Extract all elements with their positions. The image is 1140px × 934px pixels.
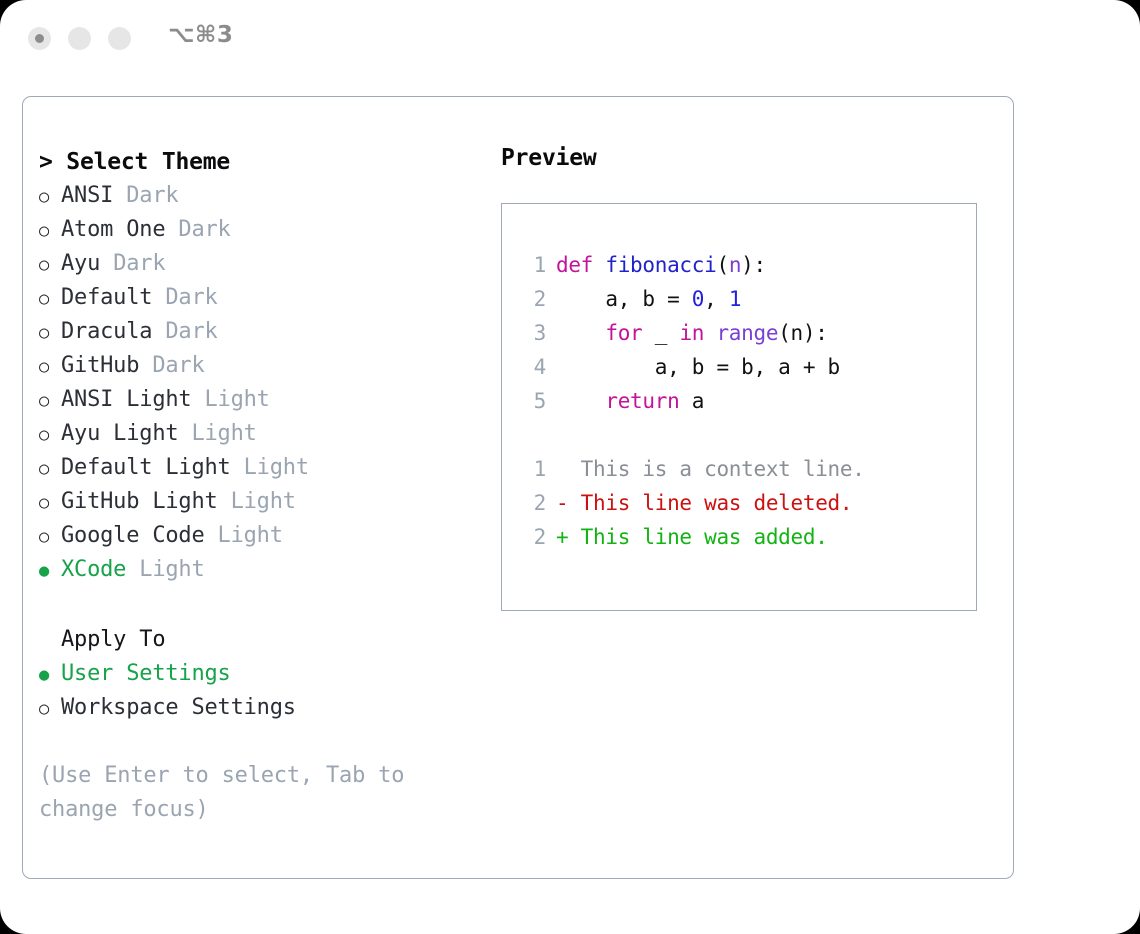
theme-option[interactable]: ○Ayu Dark — [39, 247, 479, 281]
theme-option-variant: Light — [218, 523, 283, 548]
theme-option[interactable]: ○Atom One Dark — [39, 213, 479, 247]
theme-picker-panel: > Select Theme ○ANSI Dark○Atom One Dark○… — [22, 96, 1014, 879]
diff-line: 1 This is a context line. — [520, 452, 976, 486]
code-line: 1def fibonacci(n): — [520, 248, 976, 282]
code-token: a — [679, 389, 704, 413]
apply-to-option[interactable]: ●User Settings — [39, 657, 479, 691]
radio-unselected-icon: ○ — [39, 180, 61, 214]
keyboard-shortcut-label: ⌥⌘3 — [168, 22, 233, 48]
diff-sample: 1 This is a context line.2- This line wa… — [520, 452, 976, 554]
radio-unselected-icon: ○ — [39, 384, 61, 418]
radio-unselected-icon: ○ — [39, 316, 61, 350]
window-button-close[interactable] — [28, 27, 51, 50]
diff-line-number: 1 — [520, 452, 546, 486]
window-title-bar: ⌥⌘3 — [0, 0, 1140, 78]
theme-option[interactable]: ○GitHub Dark — [39, 349, 479, 383]
code-token: ): — [741, 253, 766, 277]
preview-box: 1def fibonacci(n):2 a, b = 0, 13 for _ i… — [501, 203, 977, 611]
code-token — [556, 389, 605, 413]
theme-option-name: GitHub Light — [61, 489, 218, 514]
theme-list: ○ANSI Dark○Atom One Dark○Ayu Dark○Defaul… — [39, 179, 479, 587]
code-token: 1 — [729, 287, 741, 311]
code-token — [556, 321, 605, 345]
code-token: ( — [716, 253, 728, 277]
code-token: a, b = b, a + b — [556, 355, 840, 379]
code-line: 5 return a — [520, 384, 976, 418]
code-sample: 1def fibonacci(n):2 a, b = 0, 13 for _ i… — [520, 248, 976, 418]
keyboard-hint-text: (Use Enter to select, Tab to change focu… — [39, 759, 449, 827]
theme-option[interactable]: ○Google Code Light — [39, 519, 479, 553]
preview-column: Preview 1def fibonacci(n):2 a, b = 0, 13… — [501, 145, 1001, 611]
theme-option-name: Google Code — [61, 523, 205, 548]
diff-line-number: 2 — [520, 486, 546, 520]
preview-header: Preview — [501, 145, 1001, 171]
diff-line-text: + This line was added. — [556, 525, 828, 549]
theme-option-name: Ayu Light — [61, 421, 178, 446]
diff-line: 2+ This line was added. — [520, 520, 976, 554]
code-token: fibonacci — [605, 253, 716, 277]
theme-option-name: ANSI Light — [61, 387, 191, 412]
code-line: 4 a, b = b, a + b — [520, 350, 976, 384]
code-token: , — [704, 287, 729, 311]
code-line-number: 1 — [520, 248, 546, 282]
code-line-number: 5 — [520, 384, 546, 418]
theme-option[interactable]: ○Dracula Dark — [39, 315, 479, 349]
theme-option-name: Ayu — [61, 251, 100, 276]
theme-option-variant: Dark — [165, 319, 217, 344]
window-button-maximize[interactable] — [108, 27, 131, 50]
theme-option-variant: Light — [205, 387, 270, 412]
radio-unselected-icon: ○ — [39, 452, 61, 486]
radio-unselected-icon: ○ — [39, 350, 61, 384]
theme-option-name: XCode — [61, 557, 126, 582]
window-button-minimize[interactable] — [68, 27, 91, 50]
diff-line: 2- This line was deleted. — [520, 486, 976, 520]
code-spacer — [520, 418, 976, 452]
apply-to-option-label: User Settings — [61, 661, 231, 686]
theme-option[interactable]: ○Ayu Light Light — [39, 417, 479, 451]
theme-option-variant: Light — [139, 557, 204, 582]
code-token: _ — [642, 321, 679, 345]
theme-option-variant: Dark — [165, 285, 217, 310]
theme-list-column: > Select Theme ○ANSI Dark○Atom One Dark○… — [39, 145, 479, 827]
apply-to-label: Apply To — [39, 623, 479, 657]
radio-unselected-icon: ○ — [39, 248, 61, 282]
diff-line-number: 2 — [520, 520, 546, 554]
radio-unselected-icon: ○ — [39, 486, 61, 520]
code-line-number: 2 — [520, 282, 546, 316]
theme-option-variant: Dark — [178, 217, 230, 242]
theme-option[interactable]: ●XCode Light — [39, 553, 479, 587]
code-line-number: 4 — [520, 350, 546, 384]
diff-line-text: This is a context line. — [556, 457, 865, 481]
code-token — [704, 321, 716, 345]
radio-unselected-icon: ○ — [39, 214, 61, 248]
theme-option-variant: Dark — [152, 353, 204, 378]
app-window: ⌥⌘3 > Select Theme ○ANSI Dark○Atom One D… — [0, 0, 1140, 934]
theme-option[interactable]: ○GitHub Light Light — [39, 485, 479, 519]
theme-option-name: GitHub — [61, 353, 139, 378]
theme-option[interactable]: ○ANSI Light Light — [39, 383, 479, 417]
radio-unselected-icon: ○ — [39, 418, 61, 452]
theme-option-name: ANSI — [61, 183, 113, 208]
theme-option-name: Default — [61, 285, 152, 310]
code-line-number: 3 — [520, 316, 546, 350]
theme-option-variant: Light — [231, 489, 296, 514]
code-line: 3 for _ in range(n): — [520, 316, 976, 350]
code-token — [593, 253, 605, 277]
apply-to-options: ●User Settings○Workspace Settings — [39, 657, 479, 725]
apply-to-section: Apply To ●User Settings○Workspace Settin… — [39, 623, 479, 725]
theme-option[interactable]: ○Default Light Light — [39, 451, 479, 485]
theme-option-name: Dracula — [61, 319, 152, 344]
code-token: n — [729, 253, 741, 277]
theme-option-variant: Light — [244, 455, 309, 480]
theme-option-variant: Dark — [113, 251, 165, 276]
radio-selected-icon: ● — [39, 554, 61, 588]
code-token: 0 — [692, 287, 704, 311]
code-line: 2 a, b = 0, 1 — [520, 282, 976, 316]
radio-unselected-icon: ○ — [39, 282, 61, 316]
code-token: (n): — [778, 321, 827, 345]
code-token: in — [679, 321, 704, 345]
radio-unselected-icon: ○ — [39, 520, 61, 554]
theme-option-name: Default Light — [61, 455, 231, 480]
code-token: range — [716, 321, 778, 345]
theme-option[interactable]: ○Default Dark — [39, 281, 479, 315]
theme-option-variant: Light — [191, 421, 256, 446]
theme-option[interactable]: ○ANSI Dark — [39, 179, 479, 213]
theme-option-name: Atom One — [61, 217, 165, 242]
apply-to-option[interactable]: ○Workspace Settings — [39, 691, 479, 725]
code-token: for — [605, 321, 642, 345]
apply-to-option-label: Workspace Settings — [61, 695, 296, 720]
code-token: def — [556, 253, 593, 277]
theme-option-variant: Dark — [126, 183, 178, 208]
radio-selected-icon: ● — [39, 658, 61, 692]
select-theme-header: > Select Theme — [39, 145, 479, 179]
code-token: a, b = — [556, 287, 692, 311]
code-token: return — [605, 389, 679, 413]
diff-line-text: - This line was deleted. — [556, 491, 852, 515]
radio-unselected-icon: ○ — [39, 692, 61, 726]
